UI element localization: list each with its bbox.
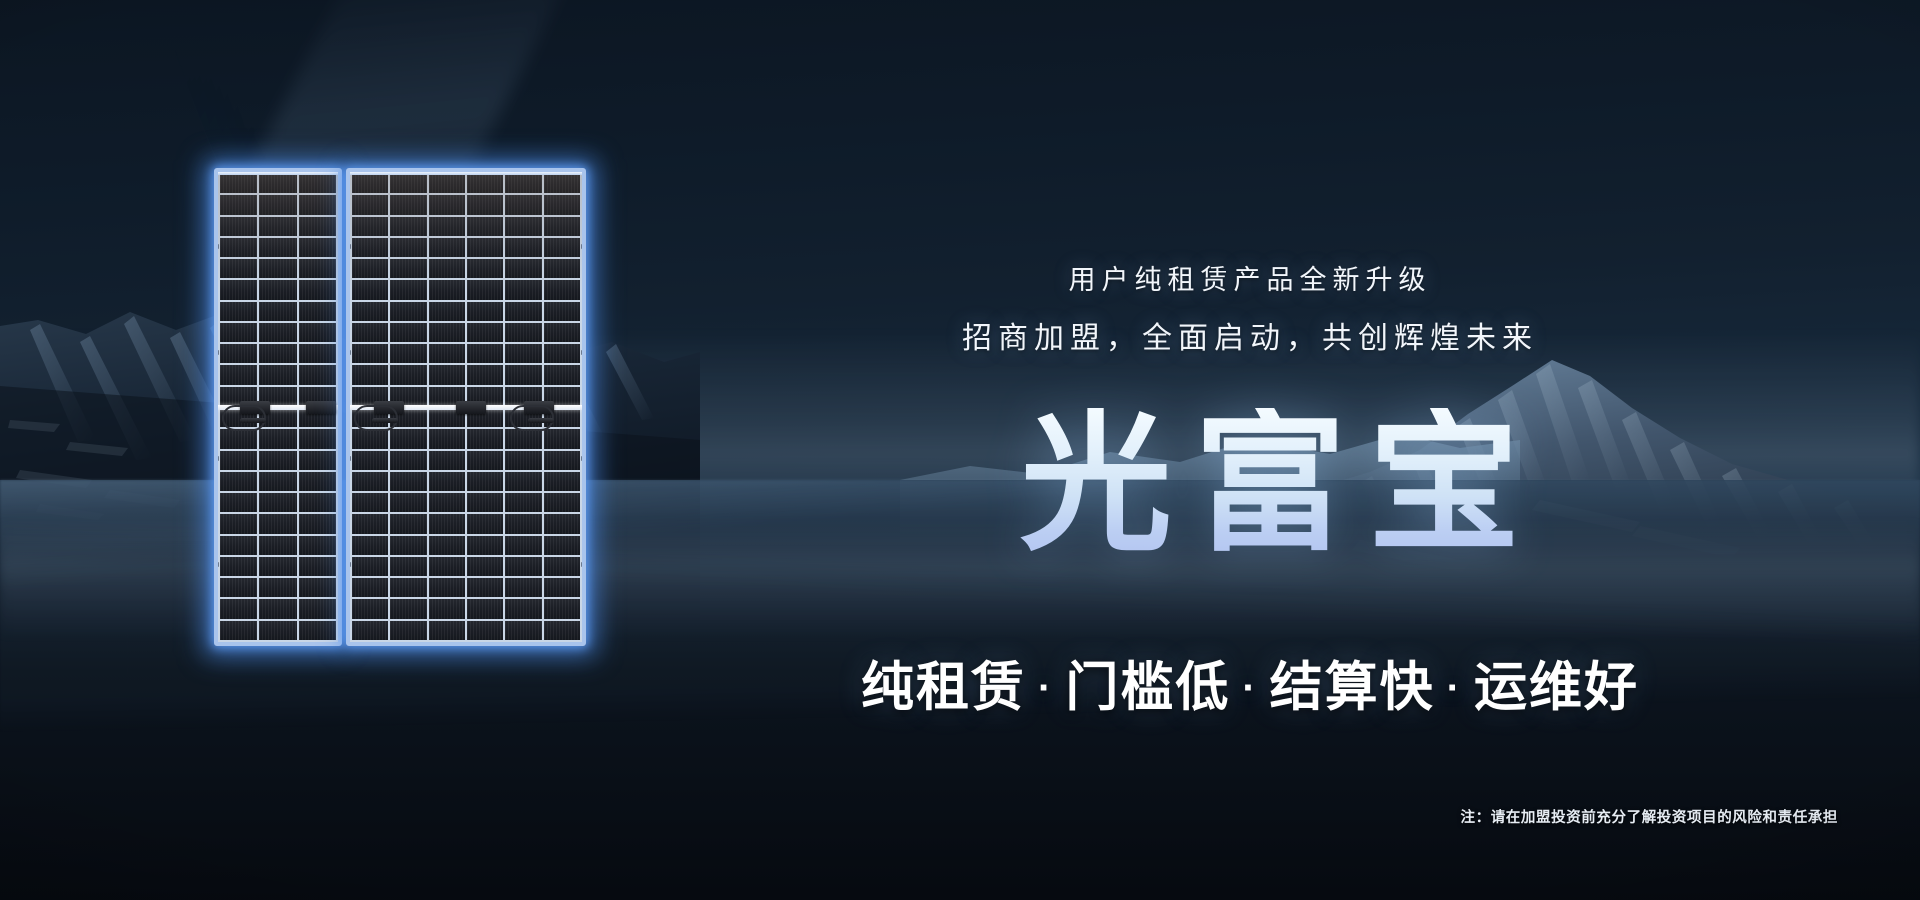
solar-cell [220,599,257,618]
solar-cell [505,259,541,278]
solar-cell [390,323,426,342]
solar-cell [220,514,257,533]
solar-cell [544,280,580,299]
solar-cell [390,451,426,470]
junction-box [456,401,486,414]
solar-cell [259,514,296,533]
solar-cell [429,472,465,491]
frame-screw [349,350,351,355]
solar-cell [429,280,465,299]
solar-cell [390,472,426,491]
solar-cell [467,344,503,363]
frame-screw [217,562,219,567]
solar-cell [505,536,541,555]
solar-cell [259,599,296,618]
solar-cell [220,195,257,214]
solar-cell [544,557,580,576]
frame-screw [349,456,351,461]
solar-cell [467,536,503,555]
solar-cell [505,217,541,236]
frame-screw [217,244,219,249]
solar-cell [259,174,296,193]
solar-cell [352,429,388,448]
solar-cell [299,429,336,448]
solar-cell [352,302,388,321]
solar-cell [259,323,296,342]
solar-cell [505,599,541,618]
solar-cell [544,429,580,448]
solar-cell [390,280,426,299]
frame-screw [349,562,351,567]
solar-cell [505,472,541,491]
solar-cell [299,174,336,193]
solar-cell [467,302,503,321]
solar-cell [429,174,465,193]
solar-cell [352,451,388,470]
solar-cell [259,578,296,597]
solar-cell [220,238,257,257]
solar-cell [299,238,336,257]
frame-screw [217,350,219,355]
solar-cell [505,238,541,257]
solar-cell [390,514,426,533]
solar-cell [299,302,336,321]
solar-cell [467,429,503,448]
solar-cell [352,514,388,533]
solar-cell [352,472,388,491]
solar-cell [390,259,426,278]
solar-cell [544,451,580,470]
frame-screw [581,456,583,461]
solar-cell [505,451,541,470]
solar-cell [299,280,336,299]
solar-cell [429,451,465,470]
solar-cell [220,365,257,384]
tagline-item-4: 运维好 [1474,658,1639,717]
solar-cell [429,259,465,278]
solar-cell [429,302,465,321]
solar-cell [505,621,541,640]
solar-cell [259,536,296,555]
solar-cell [299,536,336,555]
solar-cell [467,174,503,193]
solar-cell [505,195,541,214]
solar-cell [544,599,580,618]
solar-cell [220,429,257,448]
solar-cell [352,621,388,640]
disclaimer-note: 注：请在加盟投资前充分了解投资项目的风险和责任承担 [1461,806,1839,827]
solar-cell [352,323,388,342]
headline-block: 用户纯租赁产品全新升级 招商加盟，全面启动，共创辉煌未来 [700,258,1800,357]
cable-loop [510,405,554,431]
solar-cell [299,599,336,618]
solar-cell [467,238,503,257]
solar-cell [352,365,388,384]
solar-cell [259,557,296,576]
solar-cell [220,280,257,299]
tagline-separator: · [1447,666,1462,711]
solar-cell [352,280,388,299]
frame-screw [581,244,583,249]
solar-cell [544,493,580,512]
solar-cell [352,599,388,618]
solar-cell [544,323,580,342]
solar-cell [259,302,296,321]
tagline-item-1: 纯租赁 [861,658,1026,717]
solar-cell [299,578,336,597]
solar-cell [429,195,465,214]
solar-cell [505,429,541,448]
solar-cell [390,536,426,555]
solar-cell [390,557,426,576]
solar-cell [544,344,580,363]
solar-cell [220,557,257,576]
solar-cell [505,557,541,576]
solar-cell [259,280,296,299]
solar-cell [429,514,465,533]
brand-title: 光富宝 [1020,408,1640,560]
solar-cell [505,302,541,321]
solar-cell [259,238,296,257]
tagline: 纯租赁·门槛低·结算快·运维好 [700,645,1800,721]
solar-cell [544,259,580,278]
solar-cell [220,472,257,491]
solar-cell [467,259,503,278]
solar-cell [299,365,336,384]
solar-panel-array [214,168,586,646]
tagline-separator: · [1038,666,1053,711]
solar-cell [220,621,257,640]
solar-cell [220,259,257,278]
solar-cell [259,451,296,470]
solar-cell [390,238,426,257]
solar-cell [467,514,503,533]
solar-cell [467,578,503,597]
solar-cell [352,174,388,193]
solar-cell [505,365,541,384]
solar-cell [259,195,296,214]
solar-cell [390,599,426,618]
solar-cell [352,259,388,278]
solar-cell [299,514,336,533]
tagline-separator: · [1242,666,1257,711]
solar-cell [352,344,388,363]
solar-cell [544,621,580,640]
solar-cell [467,451,503,470]
frame-screw [349,244,351,249]
solar-cell [352,578,388,597]
solar-cell [259,472,296,491]
solar-cell [467,599,503,618]
solar-cell [390,578,426,597]
solar-cell [259,217,296,236]
solar-cell [429,536,465,555]
solar-cell [544,302,580,321]
solar-cell [429,365,465,384]
solar-cell [544,238,580,257]
tagline-item-2: 门槛低 [1065,658,1230,717]
frame-screw [217,456,219,461]
solar-cell [467,280,503,299]
solar-cell [544,217,580,236]
cable-loop [354,405,398,431]
solar-cell [429,217,465,236]
solar-cell [429,344,465,363]
solar-cell [505,578,541,597]
solar-cell [220,323,257,342]
solar-cell [467,217,503,236]
solar-cell [505,174,541,193]
solar-cell [390,174,426,193]
solar-cell [299,217,336,236]
solar-cell [390,429,426,448]
solar-cell [429,599,465,618]
solar-cell [299,323,336,342]
solar-cell [467,472,503,491]
solar-cell [299,557,336,576]
solar-cell [220,493,257,512]
solar-cell [390,195,426,214]
solar-cell [352,217,388,236]
solar-cell [429,557,465,576]
solar-cell [220,302,257,321]
solar-cell [299,344,336,363]
solar-cell [259,429,296,448]
solar-cell [505,344,541,363]
cable-loop [222,405,266,431]
solar-cell [505,514,541,533]
solar-cell [467,621,503,640]
solar-cell [220,578,257,597]
solar-cell [390,217,426,236]
solar-cell [467,195,503,214]
solar-cell [299,195,336,214]
solar-cell [544,578,580,597]
banner-canvas: 用户纯租赁产品全新升级 招商加盟，全面启动，共创辉煌未来 光富宝 纯租赁·门槛低… [0,0,1920,900]
solar-cell [390,302,426,321]
frame-screw [581,562,583,567]
solar-cell [299,472,336,491]
solar-cell [259,344,296,363]
solar-cell [352,557,388,576]
solar-cell [467,365,503,384]
solar-cell [390,621,426,640]
frame-screw [581,350,583,355]
solar-cell [220,217,257,236]
solar-cell [505,323,541,342]
solar-cell [544,174,580,193]
solar-cell [352,536,388,555]
solar-cell [299,621,336,640]
solar-cell [352,493,388,512]
solar-cell [352,238,388,257]
solar-cell [220,451,257,470]
solar-cell [429,429,465,448]
solar-cell [299,451,336,470]
solar-cell [390,344,426,363]
solar-cell [429,578,465,597]
solar-cell [259,365,296,384]
solar-cell [299,493,336,512]
solar-cell [429,493,465,512]
solar-cell [352,195,388,214]
solar-cell [220,344,257,363]
solar-panel-right [346,168,586,646]
solar-cell [220,174,257,193]
headline-line-1: 用户纯租赁产品全新升级 [1069,265,1432,295]
solar-cell [505,280,541,299]
solar-cell [505,493,541,512]
solar-cell [544,195,580,214]
solar-cell [544,514,580,533]
solar-cell [467,323,503,342]
solar-cell [429,621,465,640]
solar-cell [467,557,503,576]
solar-cell [259,621,296,640]
solar-cell [544,472,580,491]
solar-cell [429,238,465,257]
solar-cell [220,536,257,555]
solar-cell [259,259,296,278]
solar-panel-left [214,168,342,646]
junction-box [306,401,336,414]
tagline-item-3: 结算快 [1270,658,1435,717]
solar-cell [390,493,426,512]
solar-cell [544,365,580,384]
solar-cell [259,493,296,512]
solar-cell [390,365,426,384]
solar-cell [544,536,580,555]
solar-cell [429,323,465,342]
headline-line-2: 招商加盟，全面启动，共创辉煌未来 [700,313,1800,357]
solar-cell [299,259,336,278]
solar-cell [467,493,503,512]
